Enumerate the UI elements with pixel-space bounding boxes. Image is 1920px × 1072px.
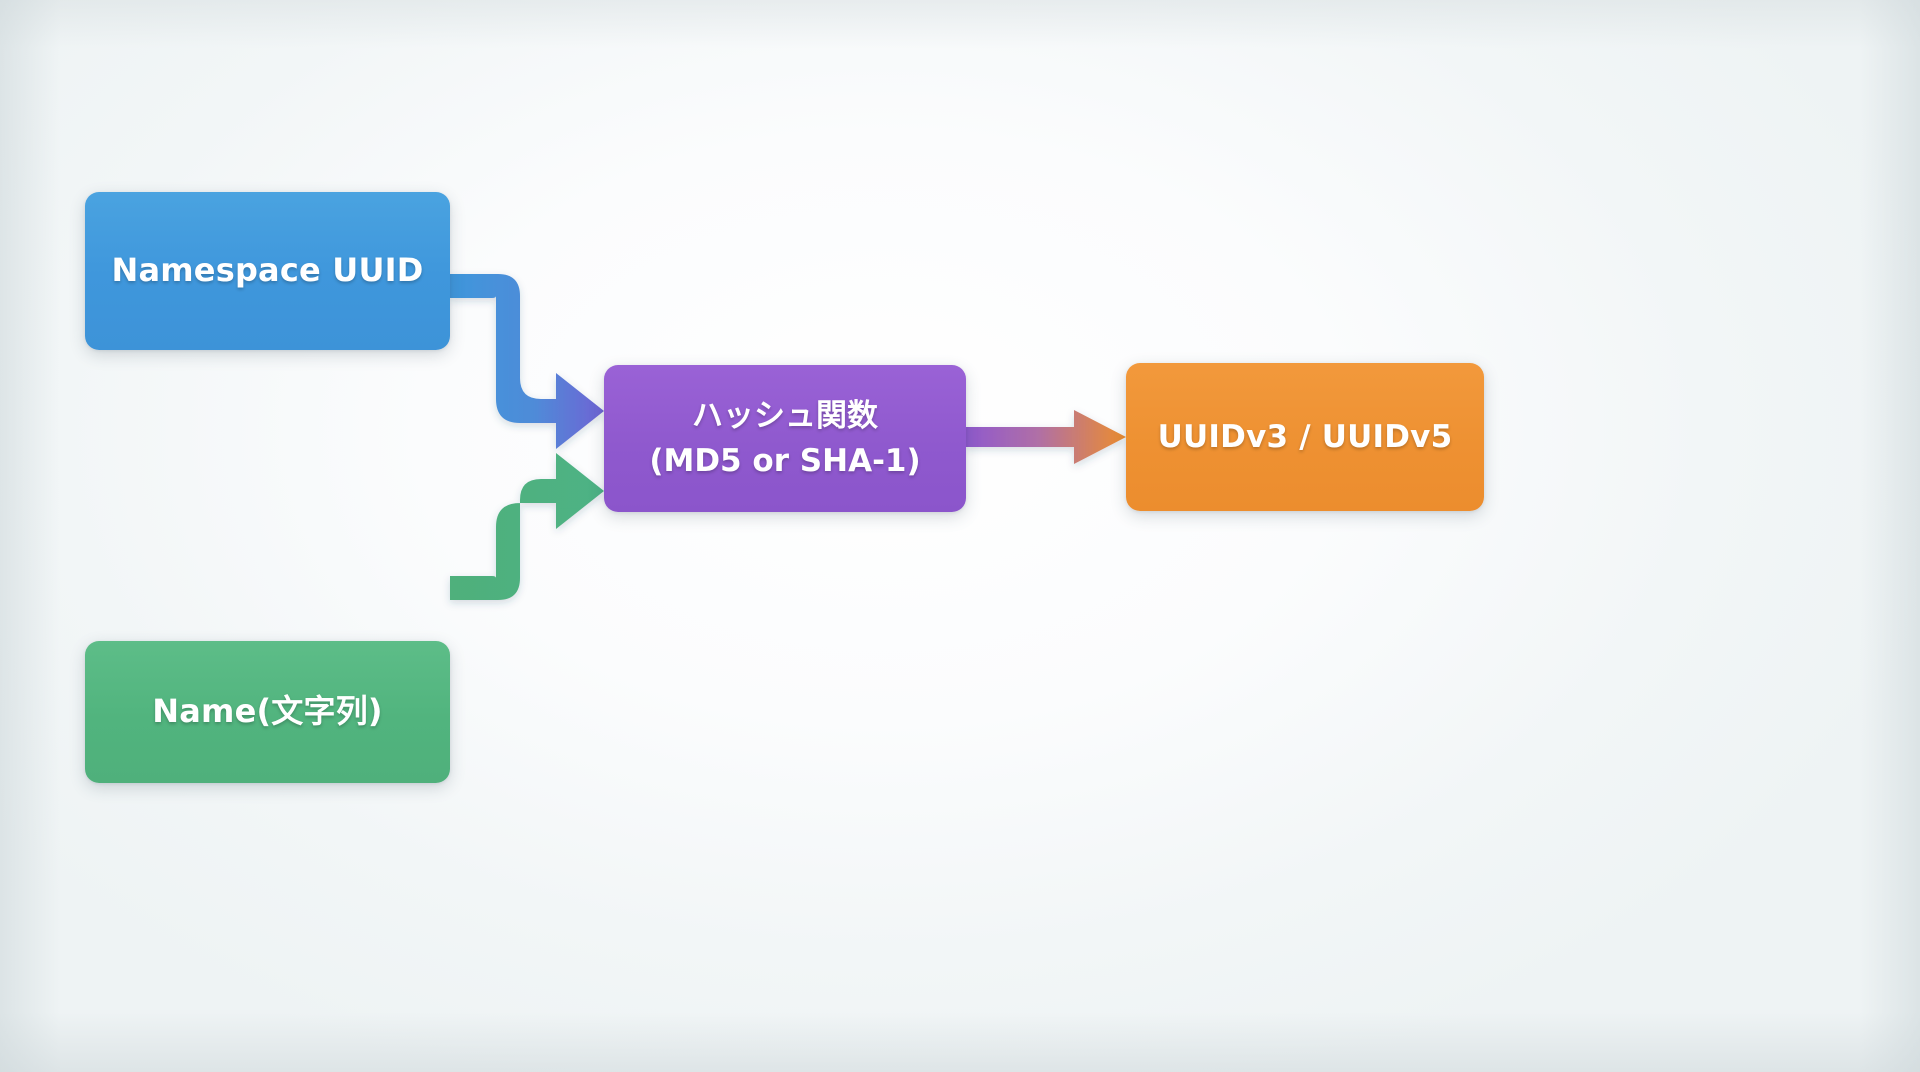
node-uuid-output-label: UUIDv3 / UUIDv5 [1158, 419, 1453, 456]
node-hash-function[interactable]: ハッシュ関数 (MD5 or SHA-1) [604, 365, 966, 512]
diagram-canvas: Namespace UUID Name(文字列) ハッシュ関数 (MD5 or … [0, 0, 1920, 1072]
connector-layer [0, 0, 1920, 1072]
edge-hash-to-output [966, 410, 1126, 464]
node-name-string[interactable]: Name(文字列) [85, 641, 450, 783]
node-hash-function-label-line2: (MD5 or SHA-1) [649, 443, 920, 480]
edge-name-to-hash [450, 453, 604, 600]
node-uuid-output[interactable]: UUIDv3 / UUIDv5 [1126, 363, 1484, 511]
node-namespace-uuid[interactable]: Namespace UUID [85, 192, 450, 350]
node-namespace-uuid-label: Namespace UUID [111, 252, 423, 290]
node-name-string-label: Name(文字列) [152, 693, 382, 731]
node-hash-function-label-line1: ハッシュ関数 [692, 398, 878, 435]
edge-namespace-to-hash [450, 274, 604, 449]
